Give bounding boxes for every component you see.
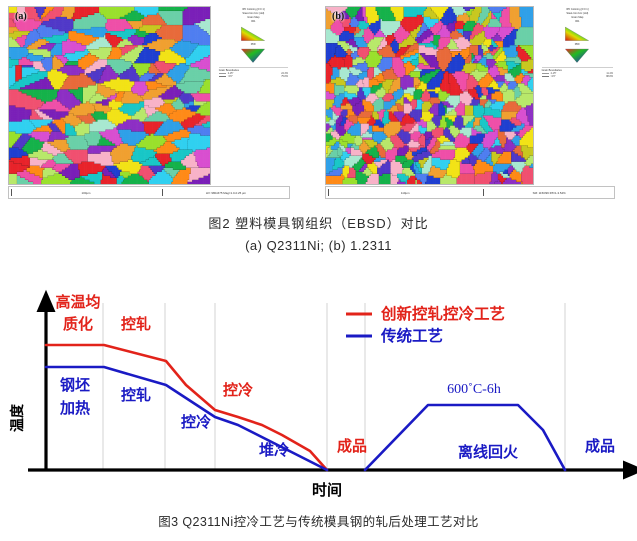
legend-title-line3: Grain Map (218, 16, 289, 20)
scale-bar-b: 110µm SM: 1150/96 IPF/1-3.54% (325, 186, 615, 199)
ebsd-figure-row: (a) IPF Coloring [0 0 1] Steel-Iron bcc … (0, 0, 637, 205)
boundary-line-icon (219, 76, 226, 77)
boundary-fraction: 88.8% (606, 75, 613, 78)
scalebar-info: HV: 980x675 Mag=1.0-0.25 µm (206, 191, 246, 195)
ebsd-panel-a: (a) IPF Coloring [0 0 1] Steel-Iron bcc … (8, 6, 290, 199)
ebsd-map-a: (a) (8, 6, 211, 185)
ebsd-legend-a: IPF Coloring [0 0 1] Steel-Iron bcc (old… (217, 6, 290, 185)
ebsd-map-b: (b) (325, 6, 534, 185)
figure2-subcaption: (a) Q2311Ni; (b) 1.2311 (0, 238, 637, 253)
ipf-triangle-group-1: 001 PDF (541, 20, 614, 65)
boundary-line-icon (219, 73, 226, 74)
ebsd-panel-b: (b) IPF Coloring [0 0 1] Steel-Iron bcc … (325, 6, 615, 199)
grain-boundary-row: >15° 75.8% (218, 75, 289, 78)
ipf-triangle-icon (564, 25, 590, 42)
scalebar-length: 100µm (82, 191, 91, 195)
ipf-label-001: 001 (251, 20, 255, 23)
scale-bar-a: 100µm HV: 980x675 Mag=1.0-0.25 µm (8, 186, 290, 199)
boundary-line-icon (542, 76, 549, 77)
grain-boundary-row: >15° 88.8% (541, 75, 614, 78)
ipf-label-pdf: PDF (251, 43, 256, 46)
legend-divider (542, 67, 613, 68)
boundary-angle: >15° (551, 75, 556, 78)
panel-tag-a: (a) (15, 11, 27, 22)
ipf-triangle2-icon (240, 47, 266, 64)
ipf-label-pdf: PDF (575, 43, 580, 46)
legend-title-line3: Grain Map (541, 16, 614, 20)
ebsd-legend-b: IPF Coloring [0 0 1] Steel-Iron bcc (old… (540, 6, 615, 185)
ipf-label-001: 001 (575, 20, 579, 23)
process-chart-svg: 创新控轧控冷工艺传统工艺高温均质化控轧控冷成品钢坯加热控轧控冷堆冷离线回火成品6… (0, 285, 637, 505)
legend-divider (219, 67, 288, 68)
scalebar-length: 110µm (401, 191, 410, 195)
scalebar-info: SM: 1150/96 IPF/1-3.54% (533, 191, 566, 195)
boundary-angle: >15° (228, 75, 233, 78)
figure2-caption: 图2 塑料模具钢组织（EBSD）对比 (0, 213, 637, 232)
panel-tag-b: (b) (332, 11, 344, 22)
figure-page: (a) IPF Coloring [0 0 1] Steel-Iron bcc … (0, 0, 637, 541)
process-chart: 创新控轧控冷工艺传统工艺高温均质化控轧控冷成品钢坯加热控轧控冷堆冷离线回火成品6… (0, 285, 637, 505)
boundary-line-icon (542, 73, 549, 74)
ipf-triangle-icon (240, 25, 266, 42)
ipf-triangle2-icon (564, 47, 590, 64)
boundary-fraction: 75.8% (281, 75, 288, 78)
figure3-caption: 图3 Q2311Ni控冷工艺与传统模具钢的轧后处理工艺对比 (0, 511, 637, 530)
ipf-triangle-group-1: 001 PDF (218, 20, 289, 65)
